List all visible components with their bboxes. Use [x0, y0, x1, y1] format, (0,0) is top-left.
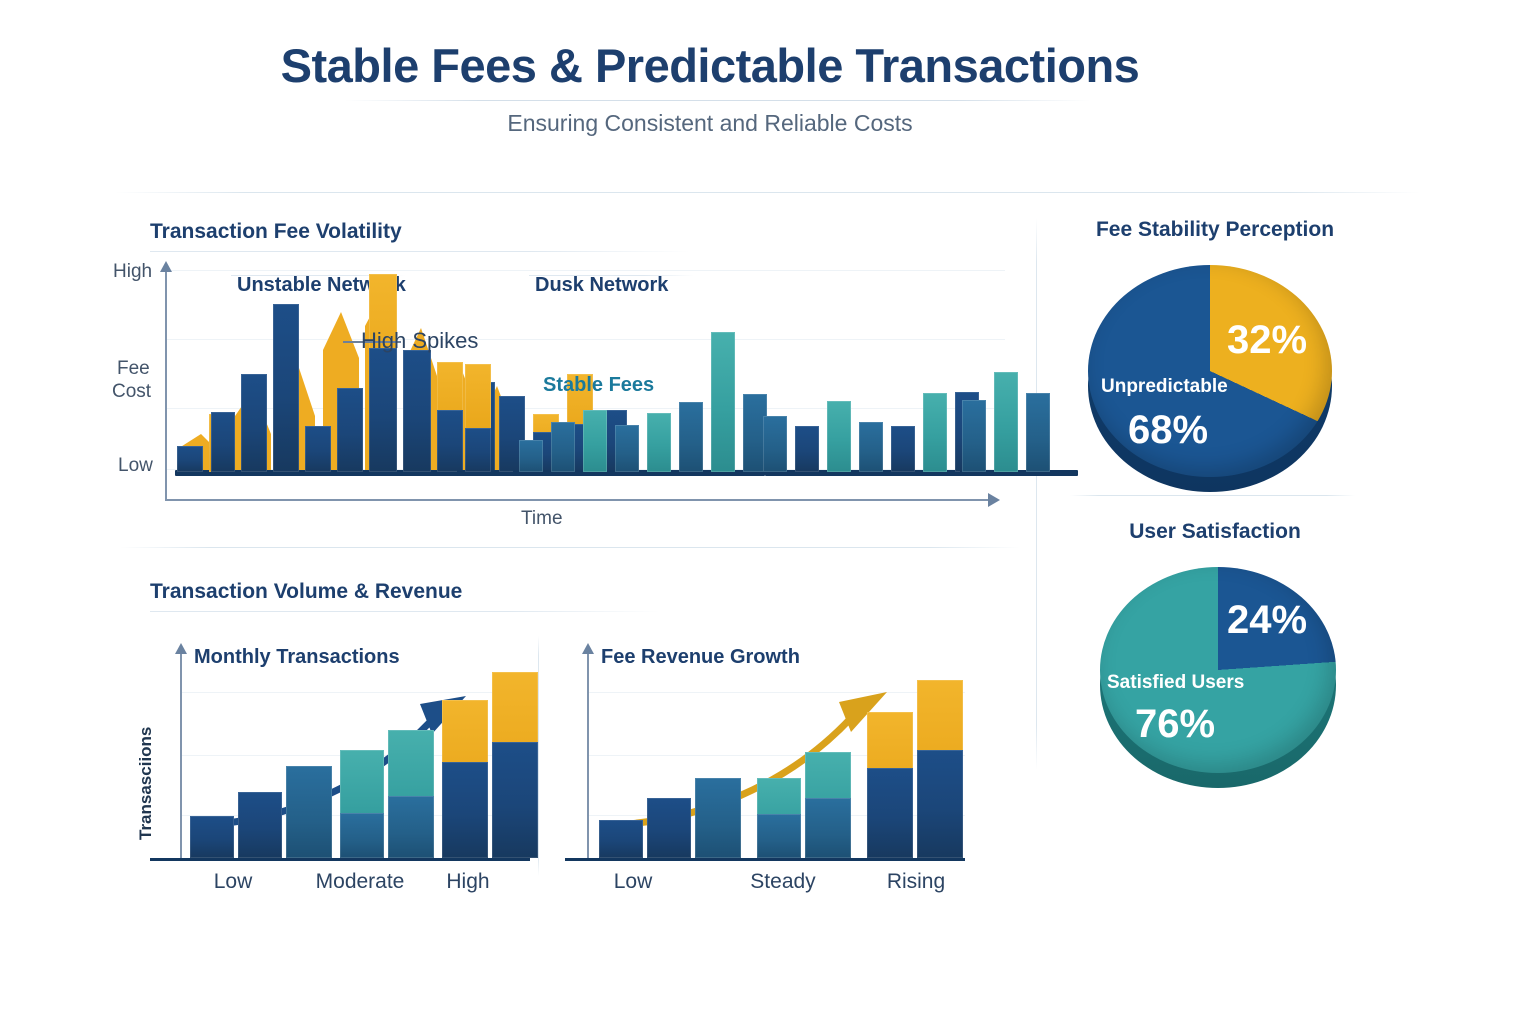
bar-segment-navy — [442, 762, 488, 858]
bar-segment-steel — [340, 813, 384, 858]
category-label-high: High — [425, 870, 511, 894]
bar-dusk-7 — [711, 332, 735, 472]
revenue-bars-group — [591, 658, 961, 858]
bar-dusk-1 — [519, 440, 543, 472]
pie-title-fee-stability: Fee Stability Perception — [1065, 218, 1365, 242]
bar-segment-navy — [917, 750, 963, 858]
bar-dusk-2 — [551, 422, 575, 472]
bar-dusk-17 — [994, 372, 1018, 472]
bar-dusk-6 — [679, 402, 703, 472]
bar-unstable-4 — [241, 374, 267, 472]
bar-revenue-3 — [695, 778, 741, 858]
bar-dusk-9 — [763, 416, 787, 472]
top-section-divider — [115, 192, 1420, 193]
bar-revenue-2 — [647, 798, 691, 858]
bar-segment-navy — [238, 792, 282, 858]
bar-monthly-3 — [286, 766, 332, 858]
bar-segment-navy — [465, 428, 491, 472]
bar-monthly-7 — [492, 672, 538, 858]
bar-revenue-1 — [599, 820, 643, 858]
pies-divider — [1070, 495, 1355, 496]
y-axis-arrow-icon — [160, 261, 172, 272]
panel-title-volume-revenue: Transaction Volume & Revenue — [150, 580, 750, 604]
bar-dusk-5 — [647, 413, 671, 472]
bar-unstable-9 — [403, 350, 431, 472]
bar-segment-navy — [177, 446, 203, 472]
bar-segment-navy — [599, 820, 643, 858]
panel-title-fee-volatility: Transaction Fee Volatility — [150, 220, 710, 244]
bar-dusk-14 — [923, 393, 947, 472]
bar-unstable-1 — [177, 446, 203, 472]
pie-slice-label-unpredictable: Unpredictable — [1101, 376, 1228, 398]
x-axis-line — [165, 499, 990, 501]
bar-monthly-6 — [442, 700, 488, 858]
pie-title-user-satisfaction: User Satisfaction — [1065, 520, 1365, 544]
bar-segment-navy — [369, 348, 397, 472]
chart-fee-revenue-growth: Fee Revenue Growth — [565, 640, 965, 870]
category-label-rising: Rising — [866, 870, 966, 894]
category-label-low: Low — [190, 870, 276, 894]
page-title: Stable Fees & Predictable Transactions — [0, 38, 1420, 93]
infographic-canvas: Stable Fees & Predictable Transactions E… — [0, 0, 1536, 1024]
bar-unstable-6 — [305, 426, 331, 472]
x-axis-caption-time: Time — [521, 508, 563, 530]
bar-segment-navy — [647, 798, 691, 858]
bar-monthly-5 — [388, 730, 434, 858]
pie-slice-label-satisfied-users: Satisfied Users — [1107, 672, 1244, 694]
bar-segment-navy — [211, 412, 235, 472]
bar-unstable-8 — [369, 274, 397, 472]
pie-slice-value-unpredictable: 68% — [1128, 408, 1208, 453]
y-axis-caption-fee: Fee — [117, 358, 150, 380]
panel-fee-volatility: Transaction Fee Volatility — [150, 220, 710, 252]
chart-monthly-transactions: Monthly Transactions — [150, 640, 530, 870]
bar-segment-navy — [190, 816, 234, 858]
bar-monthly-2 — [238, 792, 282, 858]
bar-segment-navy — [867, 768, 913, 858]
bar-dusk-4 — [615, 425, 639, 472]
category-label-steady: Steady — [728, 870, 838, 894]
page-subtitle: Ensuring Consistent and Reliable Costs — [0, 110, 1420, 137]
x-axis-line — [150, 858, 530, 861]
bar-revenue-6 — [867, 712, 913, 858]
x-axis-line — [565, 858, 965, 861]
pie-slice-value-satisfied: 76% — [1135, 702, 1215, 747]
bar-monthly-4 — [340, 750, 384, 858]
bar-segment-navy — [273, 304, 299, 472]
bar-segment-navy — [492, 742, 538, 858]
bar-segment-steel — [695, 778, 741, 858]
chart-fee-volatility: Unstable Network — [165, 266, 1005, 491]
bar-segment-navy — [403, 350, 431, 472]
bar-dusk-12 — [859, 422, 883, 472]
bar-segment-navy — [337, 388, 363, 472]
y-axis-line — [165, 272, 167, 500]
y-axis-arrow-icon — [175, 643, 187, 654]
panel-volume-revenue: Transaction Volume & Revenue — [150, 580, 750, 612]
category-label-moderate: Moderate — [302, 870, 418, 894]
bar-dusk-3 — [583, 410, 607, 472]
chart-user-satisfaction: User Satisfaction Satisfied Users 76% 24… — [1065, 520, 1365, 790]
y-tick-low: Low — [118, 455, 153, 477]
y-tick-high: High — [113, 261, 152, 283]
bar-dusk-13 — [891, 426, 915, 472]
mid-section-divider — [120, 547, 1020, 548]
bar-revenue-7 — [917, 680, 963, 858]
bar-monthly-1 — [190, 816, 234, 858]
annotation-high-spikes: High Spikes — [361, 328, 478, 354]
bar-unstable-12 — [465, 364, 491, 472]
category-label-low-revenue: Low — [590, 870, 676, 894]
panel-title-underline — [150, 611, 660, 612]
bar-segment-steel — [286, 766, 332, 858]
y-axis-arrow-icon — [582, 643, 594, 654]
bar-dusk-16 — [962, 400, 986, 472]
y-axis-caption-cost: Cost — [112, 381, 151, 403]
x-axis-arrow-icon — [988, 493, 1000, 507]
chart-fee-stability-perception: Fee Stability Perception Unpredictable 6… — [1065, 218, 1365, 488]
bar-revenue-4 — [757, 778, 801, 858]
bar-segment-steel — [757, 814, 801, 858]
monthly-bars-group — [184, 658, 524, 858]
bar-unstable-7 — [337, 388, 363, 472]
dusk-bars-group-1 — [513, 266, 765, 472]
bar-revenue-5 — [805, 752, 851, 858]
panel-title-underline — [150, 251, 690, 252]
bar-unstable-5 — [273, 304, 299, 472]
pie-slice-value-unsatisfied: 24% — [1227, 598, 1307, 643]
bar-segment-navy — [241, 374, 267, 472]
y-axis-label-transactions: Transasciions — [136, 727, 156, 840]
pie-slice-value-predictable: 32% — [1227, 318, 1307, 363]
bar-segment-steel — [388, 796, 434, 858]
bar-unstable-3 — [211, 412, 235, 472]
bar-segment-steel — [805, 798, 851, 858]
bar-dusk-18 — [1026, 393, 1050, 472]
bar-dusk-10 — [795, 426, 819, 472]
bar-segment-navy — [305, 426, 331, 472]
dusk-bars-group-2 — [765, 266, 995, 472]
bar-dusk-11 — [827, 401, 851, 472]
header-divider — [345, 100, 1090, 101]
pie-face-fee-stability — [1088, 265, 1332, 477]
subchart-divider — [538, 636, 539, 876]
